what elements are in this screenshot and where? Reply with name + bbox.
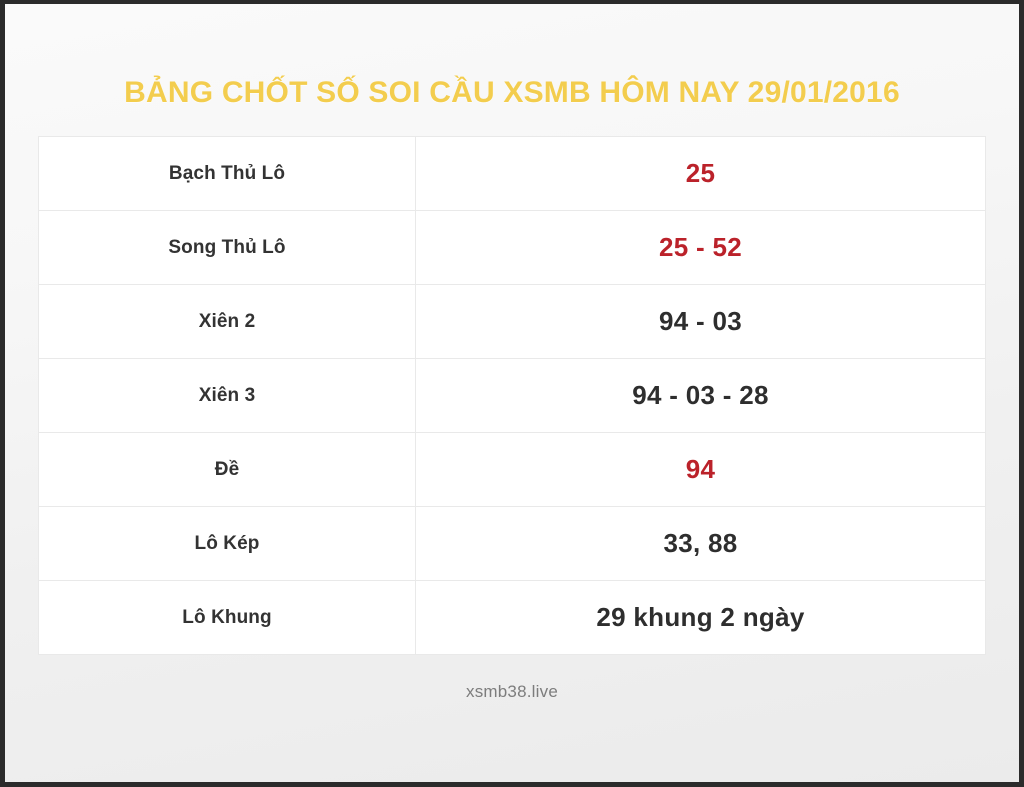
row-value: 29 khung 2 ngày xyxy=(416,581,986,655)
row-label: Song Thủ Lô xyxy=(39,211,416,285)
table-row: Lô Khung 29 khung 2 ngày xyxy=(39,581,986,655)
row-label: Lô Khung xyxy=(39,581,416,655)
table-row: Xiên 2 94 - 03 xyxy=(39,285,986,359)
site-watermark: xsmb38.live xyxy=(466,682,558,701)
table-row: Song Thủ Lô 25 - 52 xyxy=(39,211,986,285)
page-body: BẢNG CHỐT SỐ SOI CẦU XSMB HÔM NAY 29/01/… xyxy=(5,4,1019,782)
table-row: Bạch Thủ Lô 25 xyxy=(39,137,986,211)
row-value: 25 - 52 xyxy=(416,211,986,285)
footer: xsmb38.live xyxy=(5,682,1019,702)
lottery-table-container: Bạch Thủ Lô 25 Song Thủ Lô 25 - 52 Xiên … xyxy=(38,136,986,655)
page-title-container: BẢNG CHỐT SỐ SOI CẦU XSMB HÔM NAY 29/01/… xyxy=(5,4,1019,110)
screenshot-frame: BẢNG CHỐT SỐ SOI CẦU XSMB HÔM NAY 29/01/… xyxy=(0,0,1024,787)
table-row: Đề 94 xyxy=(39,433,986,507)
row-value: 33, 88 xyxy=(416,507,986,581)
row-label: Đề xyxy=(39,433,416,507)
row-value: 94 - 03 - 28 xyxy=(416,359,986,433)
row-value: 94 xyxy=(416,433,986,507)
row-label: Xiên 3 xyxy=(39,359,416,433)
row-label: Lô Kép xyxy=(39,507,416,581)
lottery-prediction-table: Bạch Thủ Lô 25 Song Thủ Lô 25 - 52 Xiên … xyxy=(38,136,986,655)
table-row: Xiên 3 94 - 03 - 28 xyxy=(39,359,986,433)
row-value: 94 - 03 xyxy=(416,285,986,359)
table-body: Bạch Thủ Lô 25 Song Thủ Lô 25 - 52 Xiên … xyxy=(39,137,986,655)
row-label: Xiên 2 xyxy=(39,285,416,359)
page-title: BẢNG CHỐT SỐ SOI CẦU XSMB HÔM NAY 29/01/… xyxy=(124,76,900,110)
table-row: Lô Kép 33, 88 xyxy=(39,507,986,581)
row-value: 25 xyxy=(416,137,986,211)
row-label: Bạch Thủ Lô xyxy=(39,137,416,211)
